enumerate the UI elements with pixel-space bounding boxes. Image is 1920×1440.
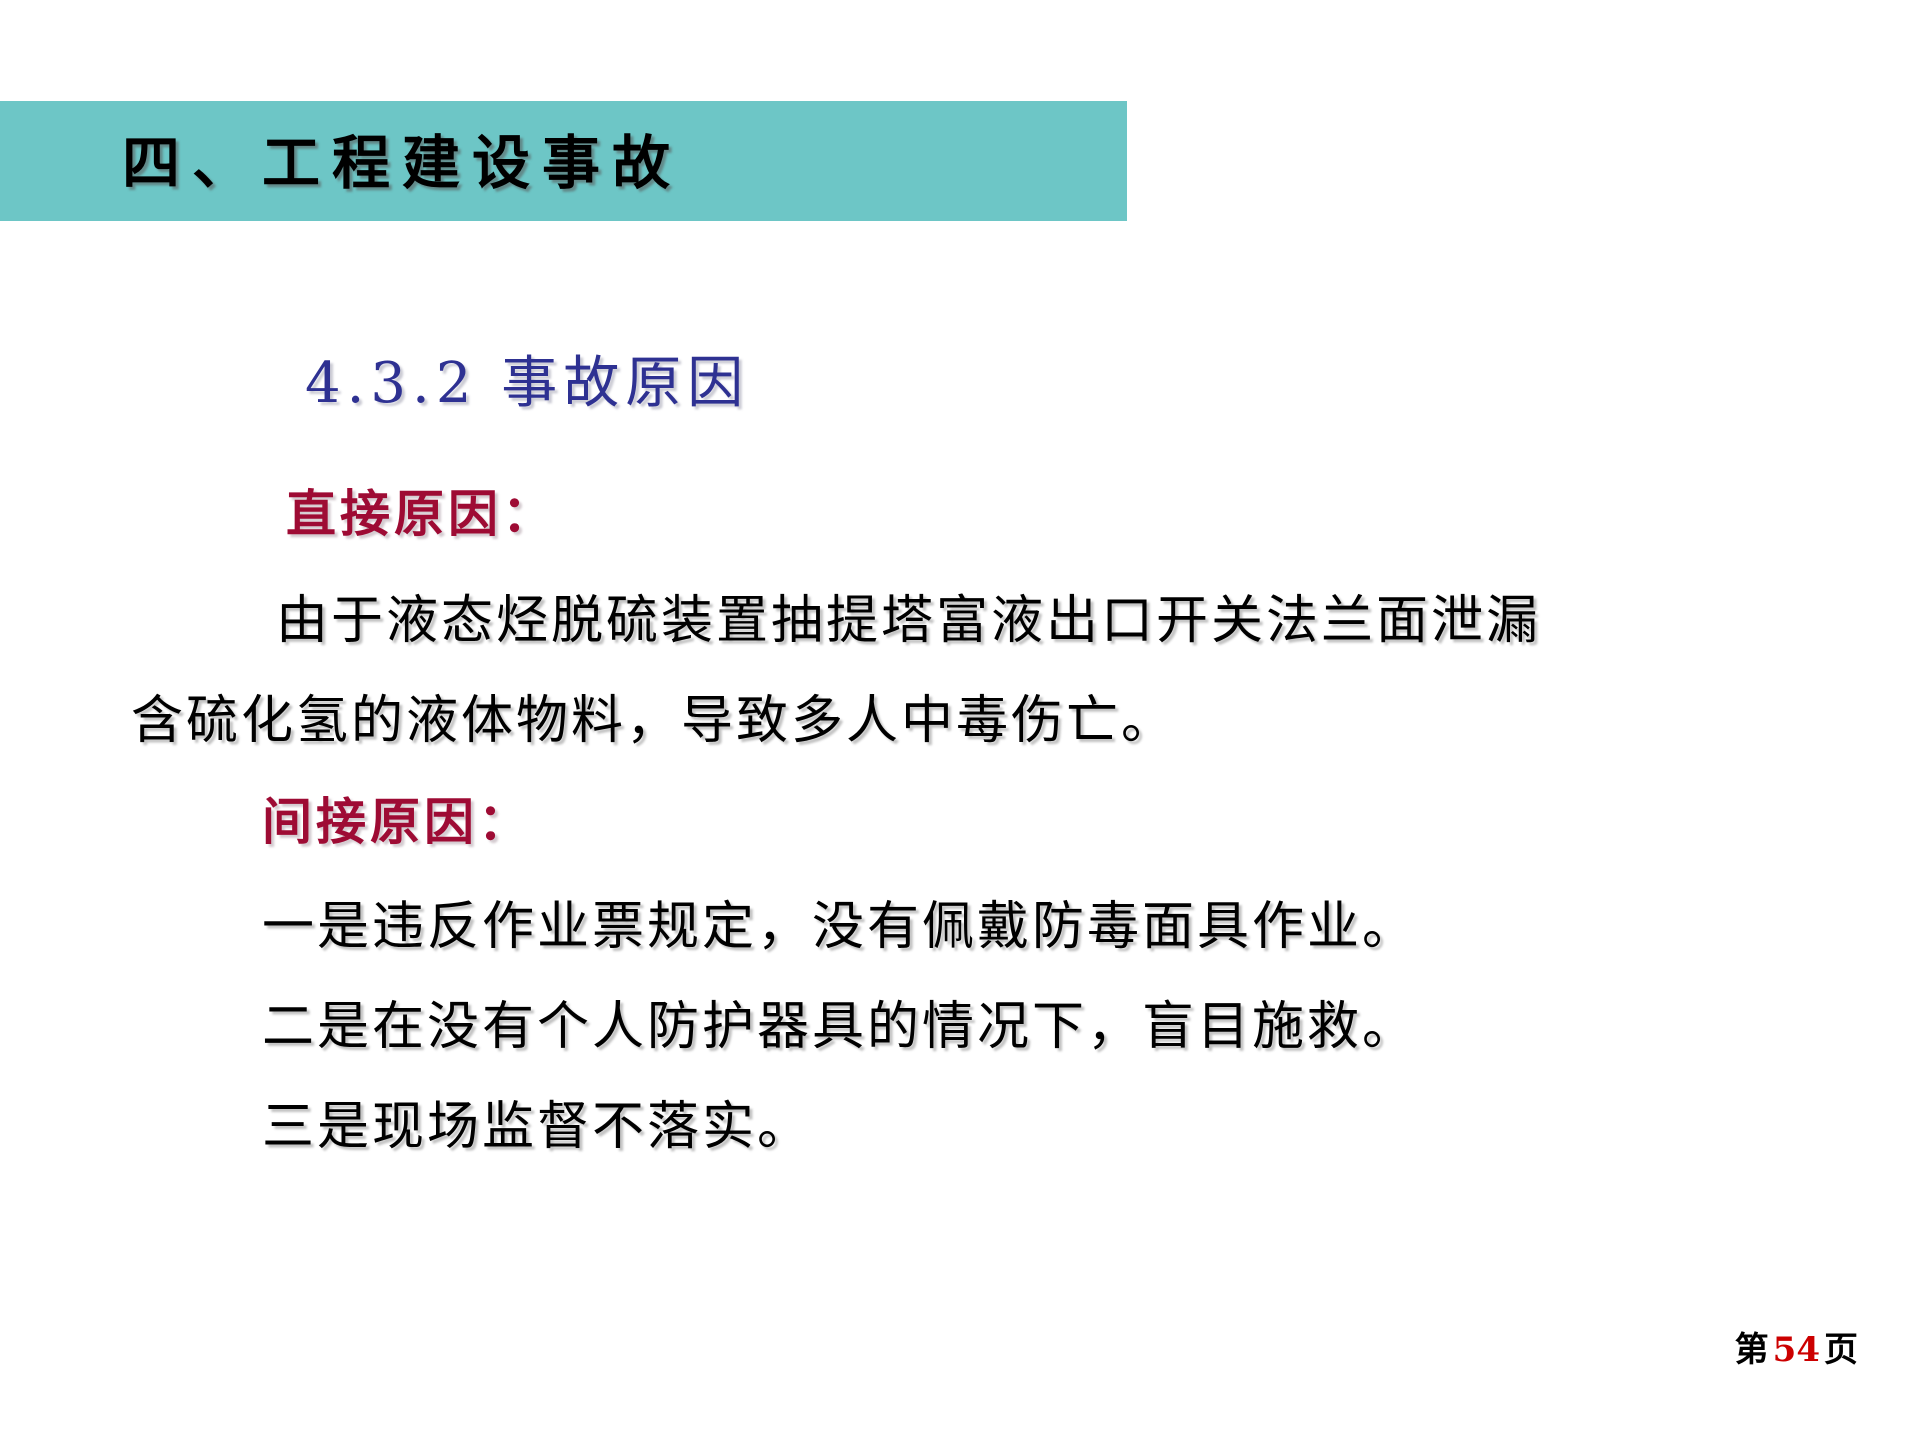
page-number-suffix: 页 bbox=[1824, 1330, 1858, 1370]
section-heading: 4.3.2 事故原因 bbox=[305, 338, 749, 419]
direct-cause-line-1: 由于液态烃脱硫装置抽提塔富液出口开关法兰面泄漏 bbox=[276, 578, 1541, 653]
indirect-cause-line-1: 一是违反作业票规定，没有佩戴防毒面具作业。 bbox=[262, 884, 1417, 959]
slide-title: 四、工程建设事故 bbox=[122, 108, 1122, 218]
indirect-cause-line-3: 三是现场监督不落实。 bbox=[262, 1084, 812, 1159]
page-number-prefix: 第 bbox=[1735, 1330, 1769, 1370]
indirect-cause-label: 间接原因： bbox=[262, 782, 532, 854]
page-number-value: 54 bbox=[1773, 1330, 1820, 1370]
indirect-cause-line-2: 二是在没有个人防护器具的情况下，盲目施救。 bbox=[262, 984, 1417, 1059]
slide-canvas: 四、工程建设事故 4.3.2 事故原因 直接原因： 由于液态烃脱硫装置抽提塔富液… bbox=[0, 0, 1920, 1440]
page-number: 第54页 bbox=[1735, 1322, 1858, 1371]
direct-cause-label: 直接原因： bbox=[286, 474, 556, 546]
direct-cause-line-2: 含硫化氢的液体物料，导致多人中毒伤亡。 bbox=[131, 678, 1176, 753]
